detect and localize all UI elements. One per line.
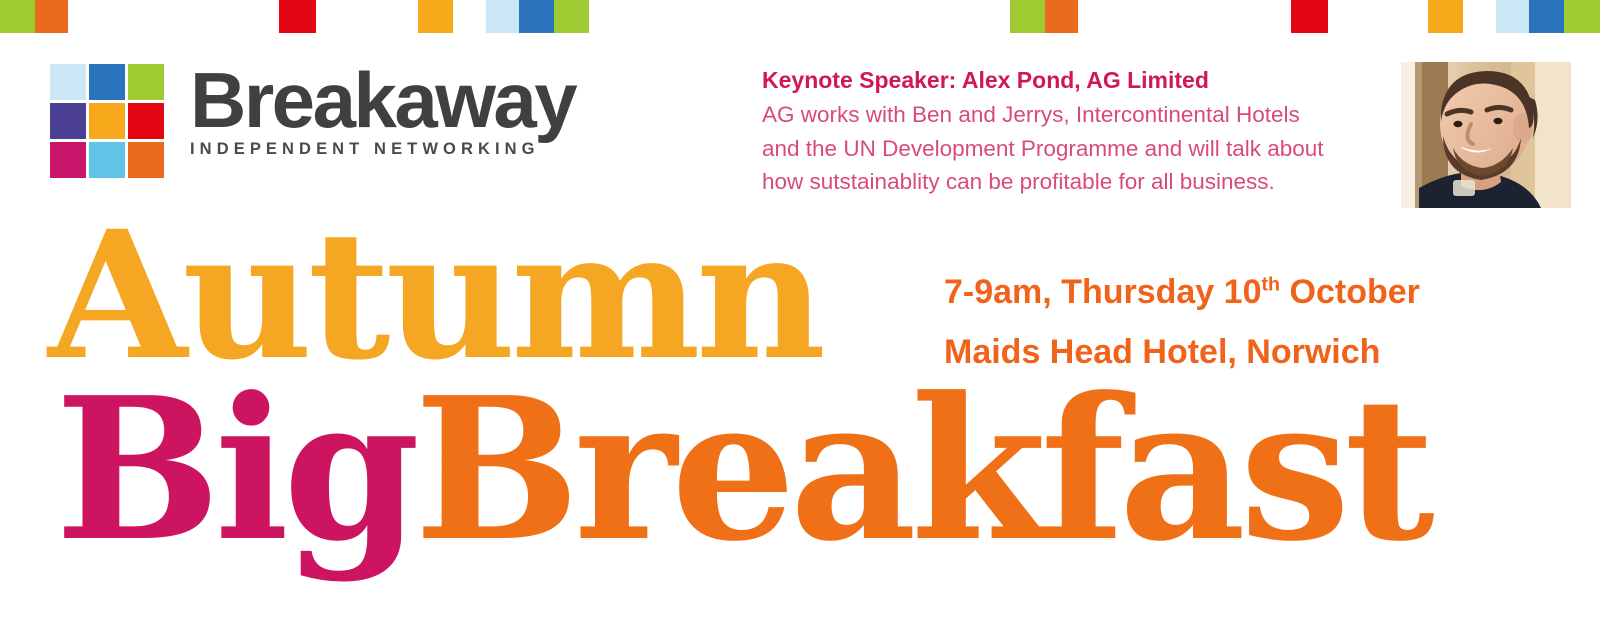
logo-cell-magenta (50, 142, 86, 178)
breakaway-logo: Breakaway INDEPENDENT NETWORKING (50, 62, 610, 184)
logo-cell-purple (50, 103, 86, 139)
stripe-3 (418, 0, 453, 33)
keynote-line: AG works with Ben and Jerrys, Interconti… (762, 98, 1392, 131)
event-details: 7-9am, Thursday 10th October Maids Head … (944, 262, 1504, 382)
decorative-stripe-band (0, 0, 1600, 33)
logo-cell-green (128, 64, 164, 100)
headline-big-breakfast: BigBreakfast (55, 372, 1429, 568)
stripe-9 (1291, 0, 1328, 33)
stripe-10 (1428, 0, 1463, 33)
stripe-7 (1010, 0, 1045, 33)
logo-cell-blue (89, 64, 125, 100)
event-month: October (1280, 273, 1420, 311)
logo-cell-red (128, 103, 164, 139)
stripe-4 (486, 0, 519, 33)
keynote-line: and the UN Development Programme and wil… (762, 132, 1392, 165)
stripe-6 (554, 0, 589, 33)
brand-name: Breakaway (190, 62, 610, 138)
headline-word-breakfast: Breakfast (414, 355, 1429, 585)
logo-cell-light-blue (50, 64, 86, 100)
stripe-12 (1529, 0, 1564, 33)
stripe-0 (0, 0, 35, 33)
event-datetime: 7-9am, Thursday 10th October (944, 262, 1504, 322)
logo-wordmark: Breakaway INDEPENDENT NETWORKING (190, 62, 610, 159)
keynote-heading: Keynote Speaker: Alex Pond, AG Limited (762, 66, 1392, 95)
logo-cell-orange (128, 142, 164, 178)
speaker-headshot (1401, 62, 1571, 208)
keynote-line: how sutstainablity can be profitable for… (762, 165, 1392, 198)
stripe-13 (1564, 0, 1600, 33)
logo-cell-amber (89, 103, 125, 139)
event-venue: Maids Head Hotel, Norwich (944, 322, 1504, 382)
stripe-8 (1045, 0, 1078, 33)
stripe-5 (519, 0, 554, 33)
keynote-speaker-panel: Keynote Speaker: Alex Pond, AG Limited A… (762, 66, 1392, 198)
stripe-11 (1496, 0, 1529, 33)
keynote-description: AG works with Ben and Jerrys, Interconti… (762, 98, 1392, 198)
stripe-1 (35, 0, 68, 33)
stripe-2 (279, 0, 316, 33)
breakaway-grid-logo-icon (50, 64, 170, 182)
headline-word-big: Big (55, 355, 414, 585)
event-datetime-prefix: 7-9am, Thursday 10 (944, 273, 1261, 311)
logo-cell-cyan (89, 142, 125, 178)
date-ordinal-suffix: th (1261, 274, 1280, 296)
